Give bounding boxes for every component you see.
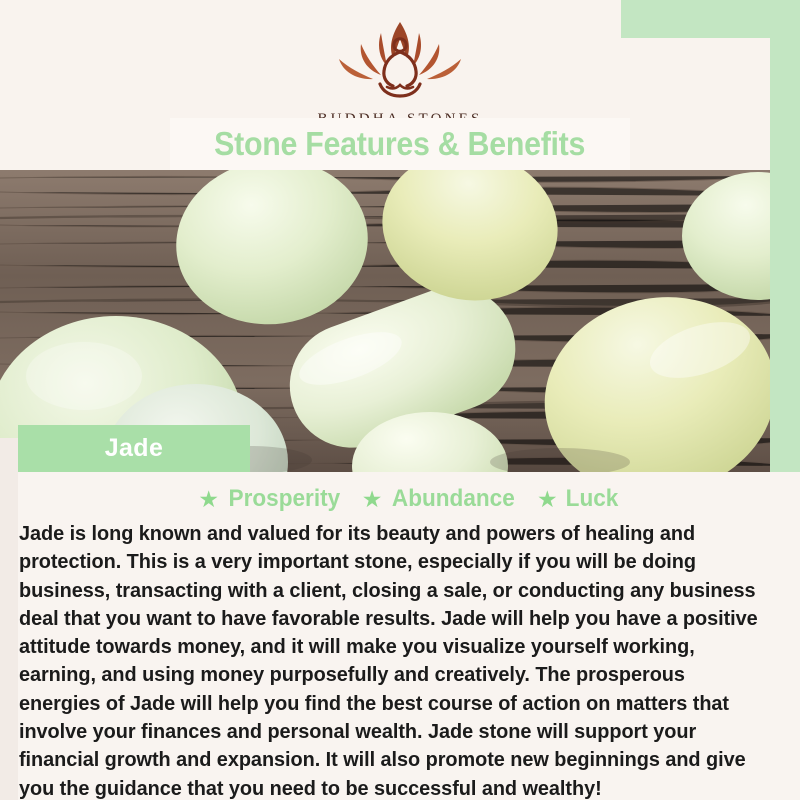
keyword-list: ★ Prosperity ★ Abundance ★ Luck	[18, 472, 800, 516]
title-banner: Stone Features & Benefits	[170, 118, 630, 170]
stone-name: Jade	[105, 434, 164, 463]
keyword-label: Abundance	[392, 485, 515, 513]
star-icon: ★	[362, 488, 383, 511]
decorative-left-pale-strip	[0, 438, 20, 800]
stone-name-band: Jade	[18, 425, 250, 472]
star-icon: ★	[537, 488, 558, 511]
stone-benefits-poster: BUDDHA STONES Stone Features & Benefits	[0, 0, 800, 800]
keyword-item: ★ Abundance	[362, 485, 519, 513]
stone-description: Jade is long known and valued for its be…	[18, 520, 777, 800]
page-title: Stone Features & Benefits	[214, 125, 585, 163]
star-icon: ★	[198, 488, 219, 511]
content-panel: ★ Prosperity ★ Abundance ★ Luck Jade is …	[18, 472, 800, 800]
keyword-item: ★ Luck	[537, 485, 620, 513]
keyword-label: Luck	[565, 485, 618, 513]
keyword-label: Prosperity	[229, 485, 341, 513]
keyword-item: ★ Prosperity	[198, 485, 343, 513]
